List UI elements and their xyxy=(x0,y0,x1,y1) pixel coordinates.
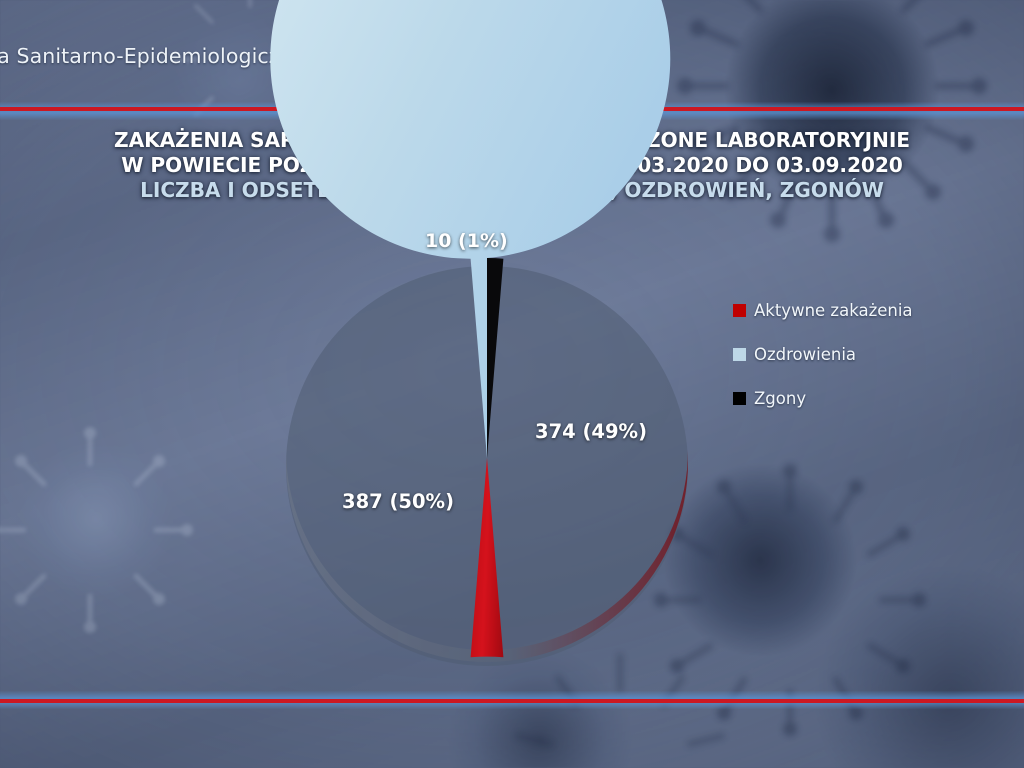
title-line-2: W POWIECIE POZNAŃSKIM W OKRESIE OD 09.03… xyxy=(0,153,1024,178)
title-line-3: LICZBA I ODSETEK AKTYWNYCH ZAKAŻEŃ, OZDR… xyxy=(0,178,1024,203)
legend-swatch-icon-zgony xyxy=(733,392,746,405)
divider-top xyxy=(0,98,1024,122)
divider-bottom-red-line xyxy=(0,699,1024,703)
divider-top-blue-band xyxy=(0,102,1024,120)
legend-item-ozdrowienia: Ozdrowienia xyxy=(733,332,983,376)
legend-swatch-icon-aktywne-zakazenia xyxy=(733,304,746,317)
legend-label-aktywne-zakazenia: Aktywne zakażenia xyxy=(754,301,913,320)
chart-legend: Aktywne zakażenia Ozdrowienia Zgony xyxy=(733,288,983,420)
legend-swatch-icon-ozdrowienia xyxy=(733,348,746,361)
slide-canvas: wa Stacja Sanitarno-Epidemiologiczna w P… xyxy=(0,0,1024,768)
organization-title: wa Stacja Sanitarno-Epidemiologiczna w P… xyxy=(0,44,428,68)
legend-item-zgony: Zgony xyxy=(733,376,983,420)
title-line-1: ZAKAŻENIA SARS-COV-2 (COVID-19) POTWIERD… xyxy=(0,128,1024,153)
legend-item-aktywne-zakazenia: Aktywne zakażenia xyxy=(733,288,983,332)
legend-label-ozdrowienia: Ozdrowienia xyxy=(754,345,856,364)
page-title: ZAKAŻENIA SARS-COV-2 (COVID-19) POTWIERD… xyxy=(0,128,1024,203)
divider-bottom xyxy=(0,688,1024,714)
legend-label-zgony: Zgony xyxy=(754,389,806,408)
divider-top-red-line xyxy=(0,107,1024,111)
